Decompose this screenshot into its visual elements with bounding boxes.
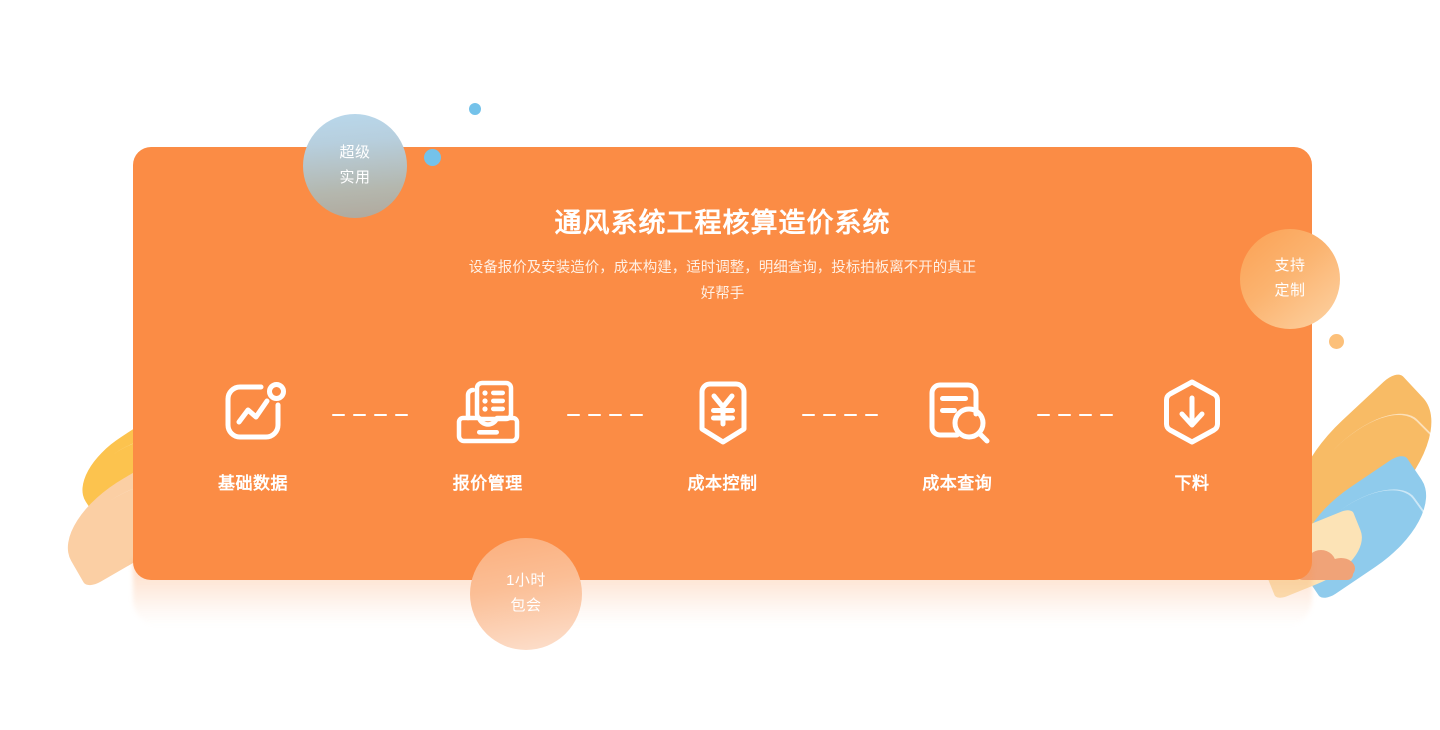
feature-item-cost-query[interactable]: 成本查询 [897, 372, 1017, 494]
badge-one-hour-guarantee: 1小时 包会 [470, 538, 582, 650]
badge-super-practical: 超级 实用 [303, 114, 407, 218]
badge-line-1: 支持 [1274, 254, 1305, 279]
badge-line-2: 实用 [339, 166, 370, 191]
feature-label: 下料 [1175, 469, 1210, 494]
feature-item-blanking[interactable]: 下料 [1132, 372, 1252, 494]
chart-card-icon [214, 372, 292, 452]
feature-item-basic-data[interactable]: 基础数据 [193, 372, 313, 494]
dot-blue-small-icon [469, 103, 481, 115]
badge-line-1: 超级 [339, 141, 370, 166]
dot-orange-icon [1329, 334, 1344, 349]
connector-dashes [313, 414, 428, 416]
inbox-document-icon [449, 372, 527, 452]
hexagon-download-icon [1153, 372, 1231, 452]
feature-label: 成本控制 [688, 469, 758, 494]
title-block: 通风系统工程核算造价系统 设备报价及安装造价，成本构建，适时调整，明细查询，投标… [133, 207, 1312, 307]
feature-label: 成本查询 [922, 469, 992, 494]
feature-row: 基础数据 [193, 372, 1252, 494]
page-subtitle: 设备报价及安装造价，成本构建，适时调整，明细查询，投标拍板离不开的真正好帮手 [463, 256, 983, 307]
document-search-icon [918, 372, 996, 452]
badge-supports-customization: 支持 定制 [1240, 229, 1340, 329]
hero-card: 通风系统工程核算造价系统 设备报价及安装造价，成本构建，适时调整，明细查询，投标… [133, 147, 1312, 580]
connector-dashes [1017, 414, 1132, 416]
dot-blue-large-icon [424, 149, 441, 166]
feature-item-cost-control[interactable]: 成本控制 [663, 372, 783, 494]
feature-label: 基础数据 [218, 469, 288, 494]
feature-label: 报价管理 [453, 469, 523, 494]
badge-line-2: 包会 [510, 594, 541, 619]
connector-dashes [783, 414, 898, 416]
yuan-receipt-icon [684, 372, 762, 452]
connector-dashes [548, 414, 663, 416]
page-title: 通风系统工程核算造价系统 [133, 207, 1312, 239]
badge-line-1: 1小时 [506, 569, 546, 594]
feature-item-quotation[interactable]: 报价管理 [428, 372, 548, 494]
badge-line-2: 定制 [1274, 279, 1305, 304]
hero-banner: 通风系统工程核算造价系统 设备报价及安装造价，成本构建，适时调整，明细查询，投标… [0, 0, 1440, 730]
